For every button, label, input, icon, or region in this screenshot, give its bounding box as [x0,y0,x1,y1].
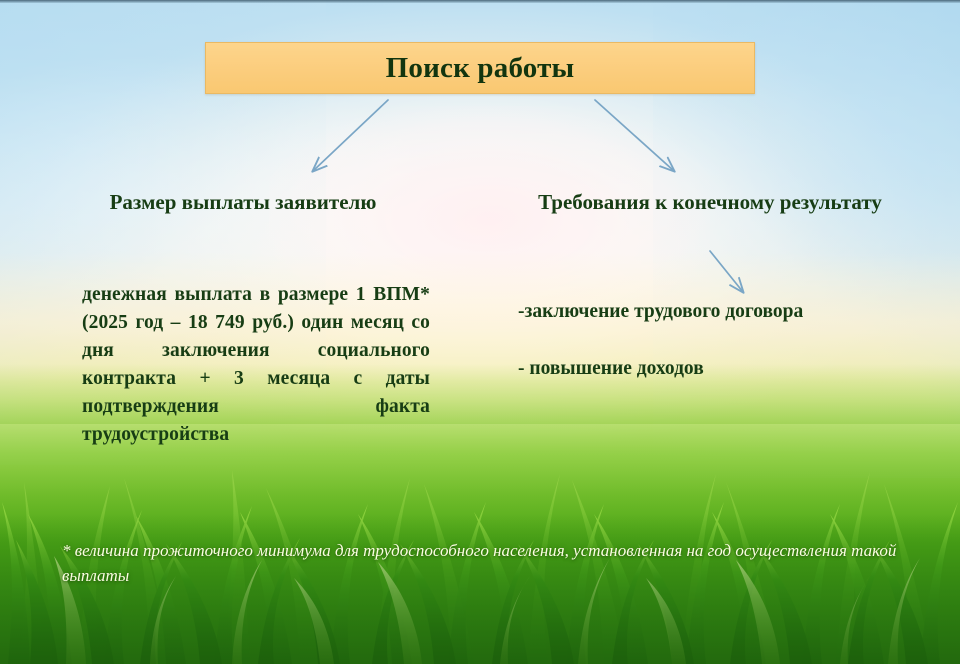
arrow-title-to-left-column [313,100,388,171]
slide-content: Поиск работы Размер выплаты заявителю де… [0,0,960,664]
page-title: Поиск работы [386,52,575,85]
footnote-text: * величина прожиточного минимума для тру… [62,538,912,588]
right-column-bullet-1: -заключение трудового договора [518,301,803,323]
left-column-heading: Размер выплаты заявителю [78,188,408,217]
arrow-title-to-right-column [595,100,674,171]
right-column-bullet-2: - повышение доходов [518,358,704,380]
title-banner: Поиск работы [205,42,755,94]
slide-root: Поиск работы Размер выплаты заявителю де… [0,0,960,664]
arrow-heading-to-bullets [710,251,743,292]
left-column-body-text: денежная выплата в размере 1 ВПМ* (2025 … [82,281,430,449]
right-column-heading: Требования к конечному результату [525,188,895,217]
